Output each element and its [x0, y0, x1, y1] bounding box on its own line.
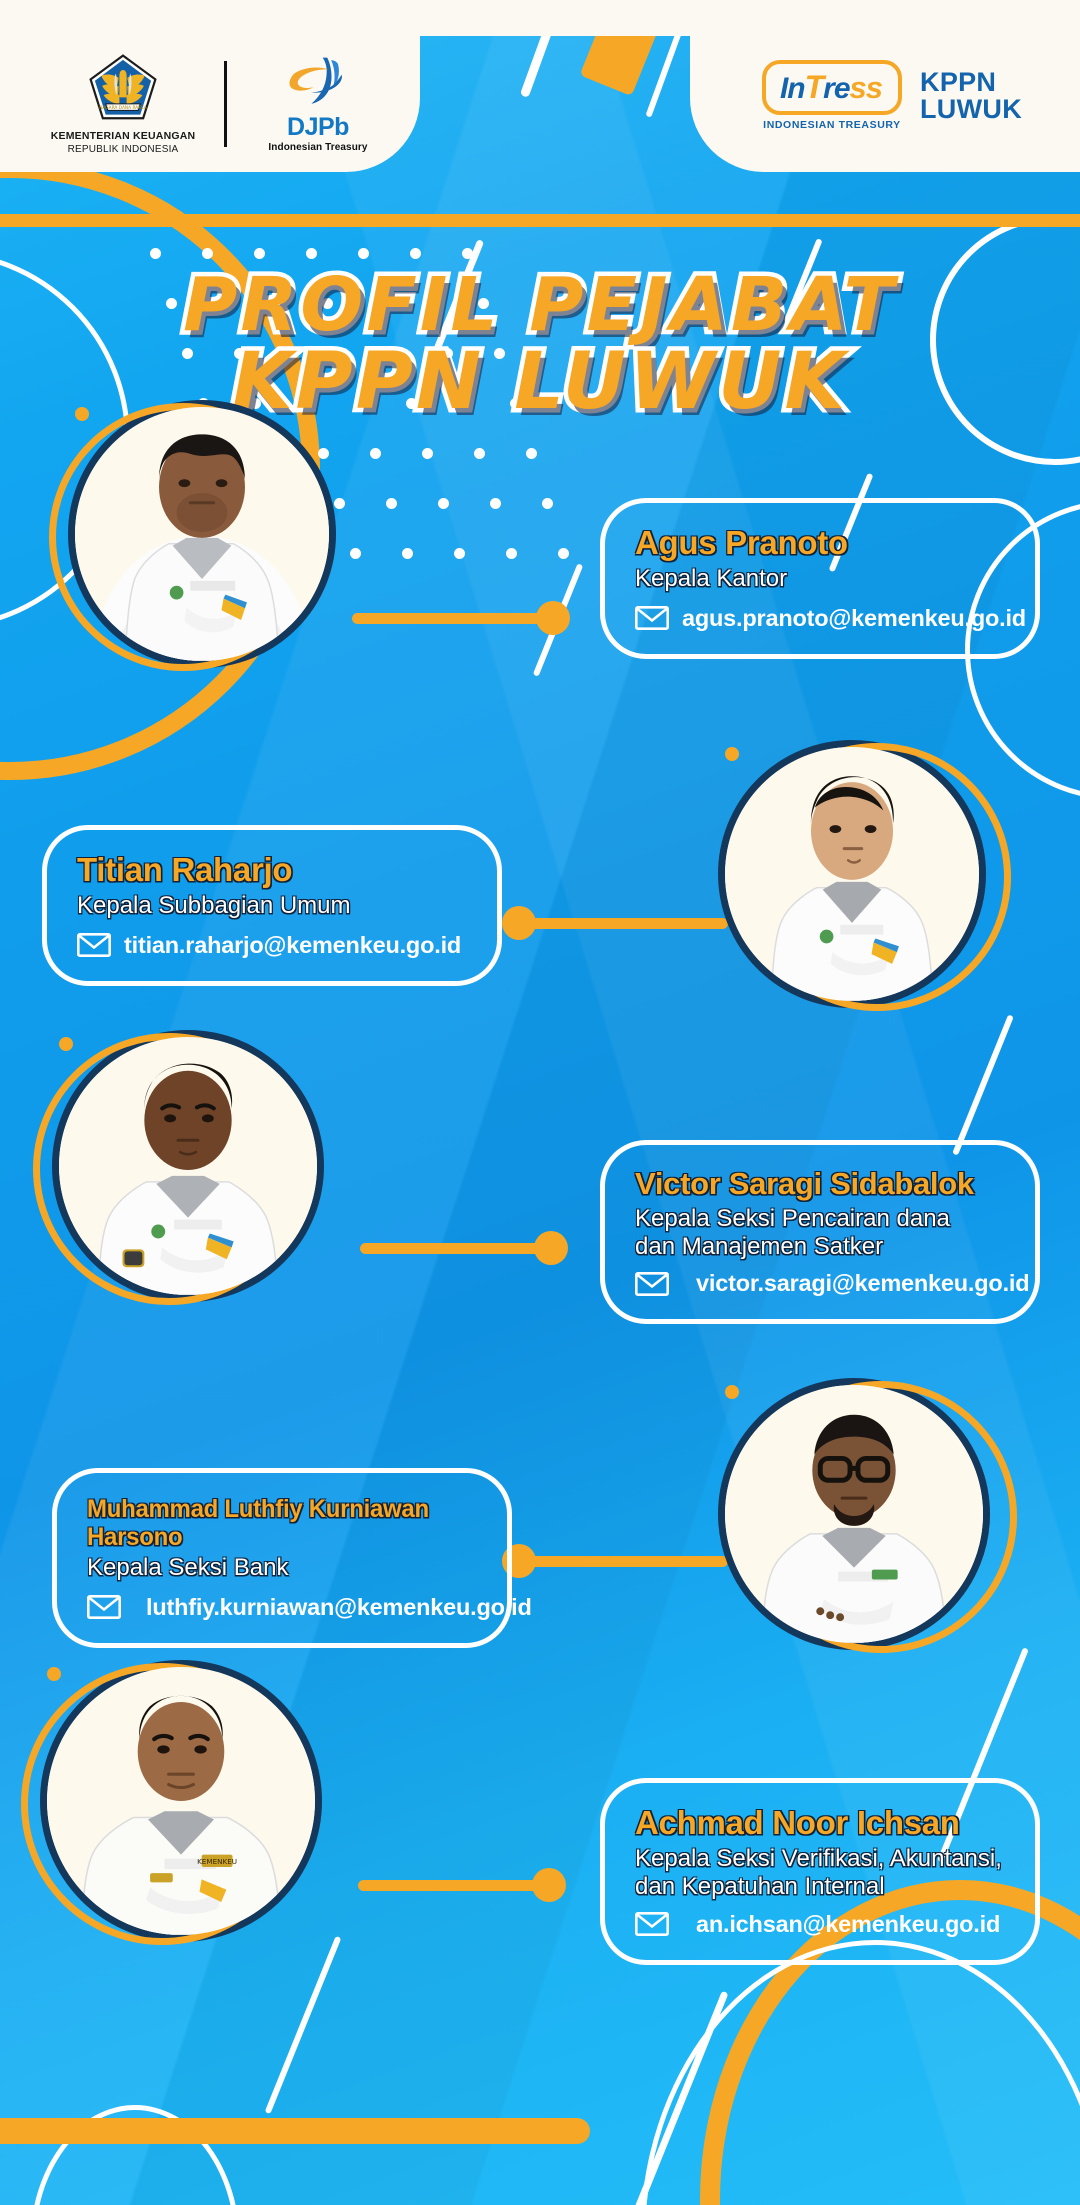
official-role: Kepala Subbagian Umum	[77, 892, 469, 920]
official-name: Muhammad Luthfiy Kurniawan Harsono	[87, 1495, 463, 1551]
poster-root: NAGARA DANA RAKCA KEMENTERIAN KEUANGAN R…	[0, 0, 1080, 2205]
official-email: agus.pranoto@kemenkeu.go.id	[682, 605, 1026, 632]
official-email: luthfiy.kurniawan@kemenkeu.go.id	[146, 1594, 532, 1621]
official-email-row: luthfiy.kurniawan@kemenkeu.go.id	[87, 1594, 479, 1621]
djpb-label: DJPb	[287, 115, 349, 140]
official-name: Victor Saragi Sidabalok	[635, 1167, 1007, 1202]
decorative-dot	[490, 498, 501, 509]
official-role-line1: Kepala Seksi Pencairan dana	[635, 1205, 1007, 1233]
page-title: PROFIL PEJABAT KPPN LUWUK	[0, 268, 1080, 423]
decorative-dot	[410, 248, 421, 259]
official-email: an.ichsan@kemenkeu.go.id	[696, 1911, 1000, 1938]
official-card-achmad-noor-ichsan: Achmad Noor Ichsan Kepala Seksi Verifika…	[600, 1778, 1040, 1965]
decorative-dot	[358, 248, 369, 259]
intress-logo-block: In T re ss INDONESIAN TREASURY KPPN LUWU…	[762, 60, 1022, 131]
decorative-dot	[506, 548, 517, 559]
djpb-tagline: Indonesian Treasury	[268, 142, 367, 153]
decorative-dot	[202, 248, 213, 259]
decorative-dot	[402, 548, 413, 559]
intress-subtitle: INDONESIAN TREASURY	[763, 119, 901, 131]
intress-text-t: T	[805, 69, 824, 106]
official-role-line1: Kepala Seksi Verifikasi, Akuntansi,	[635, 1845, 1007, 1873]
decorative-dot	[386, 498, 397, 509]
intress-text-ss: ss	[850, 70, 882, 106]
official-card-agus-pranoto: Agus Pranoto Kepala Kantor agus.pranoto@…	[600, 498, 1040, 659]
official-name: Achmad Noor Ichsan	[635, 1805, 1007, 1842]
connector-line-3	[360, 1243, 550, 1254]
official-role-line2: dan Manajemen Satker	[635, 1233, 1007, 1261]
header-logos: NAGARA DANA RAKCA KEMENTERIAN KEUANGAN R…	[48, 52, 383, 155]
photo-achmad-noor-ichsan-image: KEMENKEU	[47, 1667, 315, 1935]
header-strip	[0, 0, 1080, 36]
photo-titian-raharjo	[718, 740, 986, 1008]
envelope-icon	[77, 933, 111, 957]
decorative-dot	[150, 248, 161, 259]
intress-office-name: KPPN LUWUK	[920, 69, 1022, 123]
svg-text:NAGARA DANA RAKCA: NAGARA DANA RAKCA	[99, 105, 147, 111]
logo-divider	[224, 61, 227, 147]
connector-line-4	[528, 1556, 728, 1567]
kemenkeu-garuda-pentagon-logo-icon: NAGARA DANA RAKCA	[86, 52, 160, 124]
decorative-dot	[526, 448, 537, 459]
decorative-dot	[558, 548, 569, 559]
official-role: Kepala Seksi Bank	[87, 1554, 479, 1582]
djpb-swoosh-logo-icon	[284, 55, 352, 113]
decorative-dot	[474, 448, 485, 459]
svg-text:KEMENKEU: KEMENKEU	[197, 1857, 237, 1866]
photo-agus-pranoto-image	[75, 407, 329, 661]
connector-dot-1	[536, 601, 570, 635]
photo-titian-raharjo-image	[725, 747, 979, 1001]
connector-dot-5	[532, 1868, 566, 1902]
decorative-dot	[462, 248, 473, 259]
connector-dot-3	[534, 1231, 568, 1265]
decorative-dot	[306, 248, 317, 259]
photo-achmad-noor-ichsan: KEMENKEU	[40, 1660, 322, 1942]
connector-line-5	[358, 1880, 548, 1891]
envelope-icon	[635, 606, 669, 630]
decorative-dot	[350, 548, 361, 559]
djpb-logo-block: DJPb Indonesian Treasury	[253, 55, 383, 153]
intress-office-line2: LUWUK	[920, 96, 1022, 123]
official-email: titian.raharjo@kemenkeu.go.id	[124, 932, 461, 959]
connector-line-2	[528, 918, 728, 929]
envelope-icon	[635, 1912, 669, 1936]
kemenkeu-label-line2: REPUBLIK INDONESIA	[68, 144, 179, 155]
decorative-dot	[422, 448, 433, 459]
envelope-icon	[87, 1595, 121, 1619]
official-email: victor.saragi@kemenkeu.go.id	[696, 1270, 1029, 1297]
official-card-victor-saragi-sidabalok: Victor Saragi Sidabalok Kepala Seksi Pen…	[600, 1140, 1040, 1324]
decorative-dot	[542, 498, 553, 509]
intress-text-in: In	[780, 72, 805, 106]
connector-line-1	[352, 613, 552, 624]
official-name: Agus Pranoto	[635, 525, 1007, 562]
decorative-dot	[454, 548, 465, 559]
kemenkeu-logo-block: NAGARA DANA RAKCA KEMENTERIAN KEUANGAN R…	[48, 52, 198, 155]
photo-muhammad-luthfiy-kurniawan-harsono-image	[725, 1385, 983, 1643]
decorative-orange-bar-top	[0, 214, 1080, 227]
official-role-line2: dan Kepatuhan Internal	[635, 1873, 1007, 1901]
official-card-titian-raharjo: Titian Raharjo Kepala Subbagian Umum tit…	[42, 825, 502, 986]
official-card-muhammad-luthfiy-kurniawan-harsono: Muhammad Luthfiy Kurniawan Harsono Kepal…	[52, 1468, 512, 1648]
official-name: Titian Raharjo	[77, 852, 469, 889]
photo-victor-saragi-sidabalok-image	[59, 1037, 317, 1295]
decorative-dot	[334, 498, 345, 509]
page-title-line1: PROFIL PEJABAT	[0, 268, 1080, 343]
decorative-dot	[438, 498, 449, 509]
official-email-row: victor.saragi@kemenkeu.go.id	[635, 1270, 1007, 1297]
decorative-dot	[254, 248, 265, 259]
kemenkeu-label-line1: KEMENTERIAN KEUANGAN	[51, 130, 196, 142]
intress-wordmark: In T re ss	[762, 60, 902, 115]
connector-dot-2	[502, 906, 536, 940]
photo-victor-saragi-sidabalok	[52, 1030, 324, 1302]
intress-badge: In T re ss INDONESIAN TREASURY	[762, 60, 902, 131]
official-email-row: titian.raharjo@kemenkeu.go.id	[77, 932, 469, 959]
official-email-row: an.ichsan@kemenkeu.go.id	[635, 1911, 1007, 1938]
official-role: Kepala Kantor	[635, 565, 1007, 593]
official-email-row: agus.pranoto@kemenkeu.go.id	[635, 605, 1007, 632]
intress-office-line1: KPPN	[920, 69, 1022, 96]
intress-text-re: re	[823, 72, 849, 106]
envelope-icon	[635, 1272, 669, 1296]
photo-muhammad-luthfiy-kurniawan-harsono	[718, 1378, 990, 1650]
decorative-dot	[370, 448, 381, 459]
decorative-orange-bar-bottom	[0, 2118, 590, 2144]
photo-agus-pranoto	[68, 400, 336, 668]
